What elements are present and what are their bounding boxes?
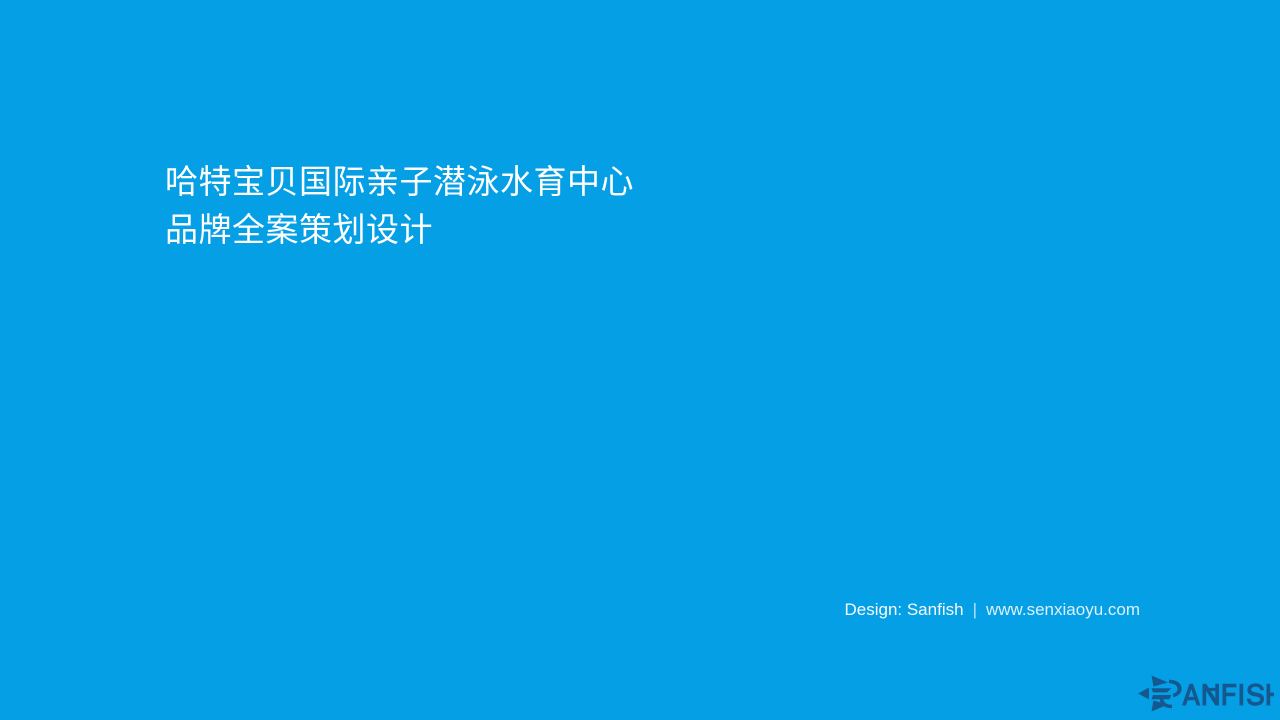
credit-separator: |: [964, 598, 986, 622]
credit-line: Design: Sanfish | www.senxiaoyu.com: [844, 598, 1140, 622]
brand-logo: [1138, 674, 1274, 714]
sanfish-wordmark: [1182, 683, 1274, 705]
presentation-slide: 哈特宝贝国际亲子潜泳水育中心 品牌全案策划设计 Design: Sanfish …: [0, 0, 1280, 720]
fish-mark-icon: [1138, 676, 1182, 712]
title-line-2: 品牌全案策划设计: [165, 206, 925, 254]
slide-title-block: 哈特宝贝国际亲子潜泳水育中心 品牌全案策划设计: [165, 158, 925, 254]
credit-url: www.senxiaoyu.com: [986, 598, 1140, 622]
credit-designer: Design: Sanfish: [844, 598, 963, 622]
title-line-1: 哈特宝贝国际亲子潜泳水育中心: [165, 158, 925, 206]
